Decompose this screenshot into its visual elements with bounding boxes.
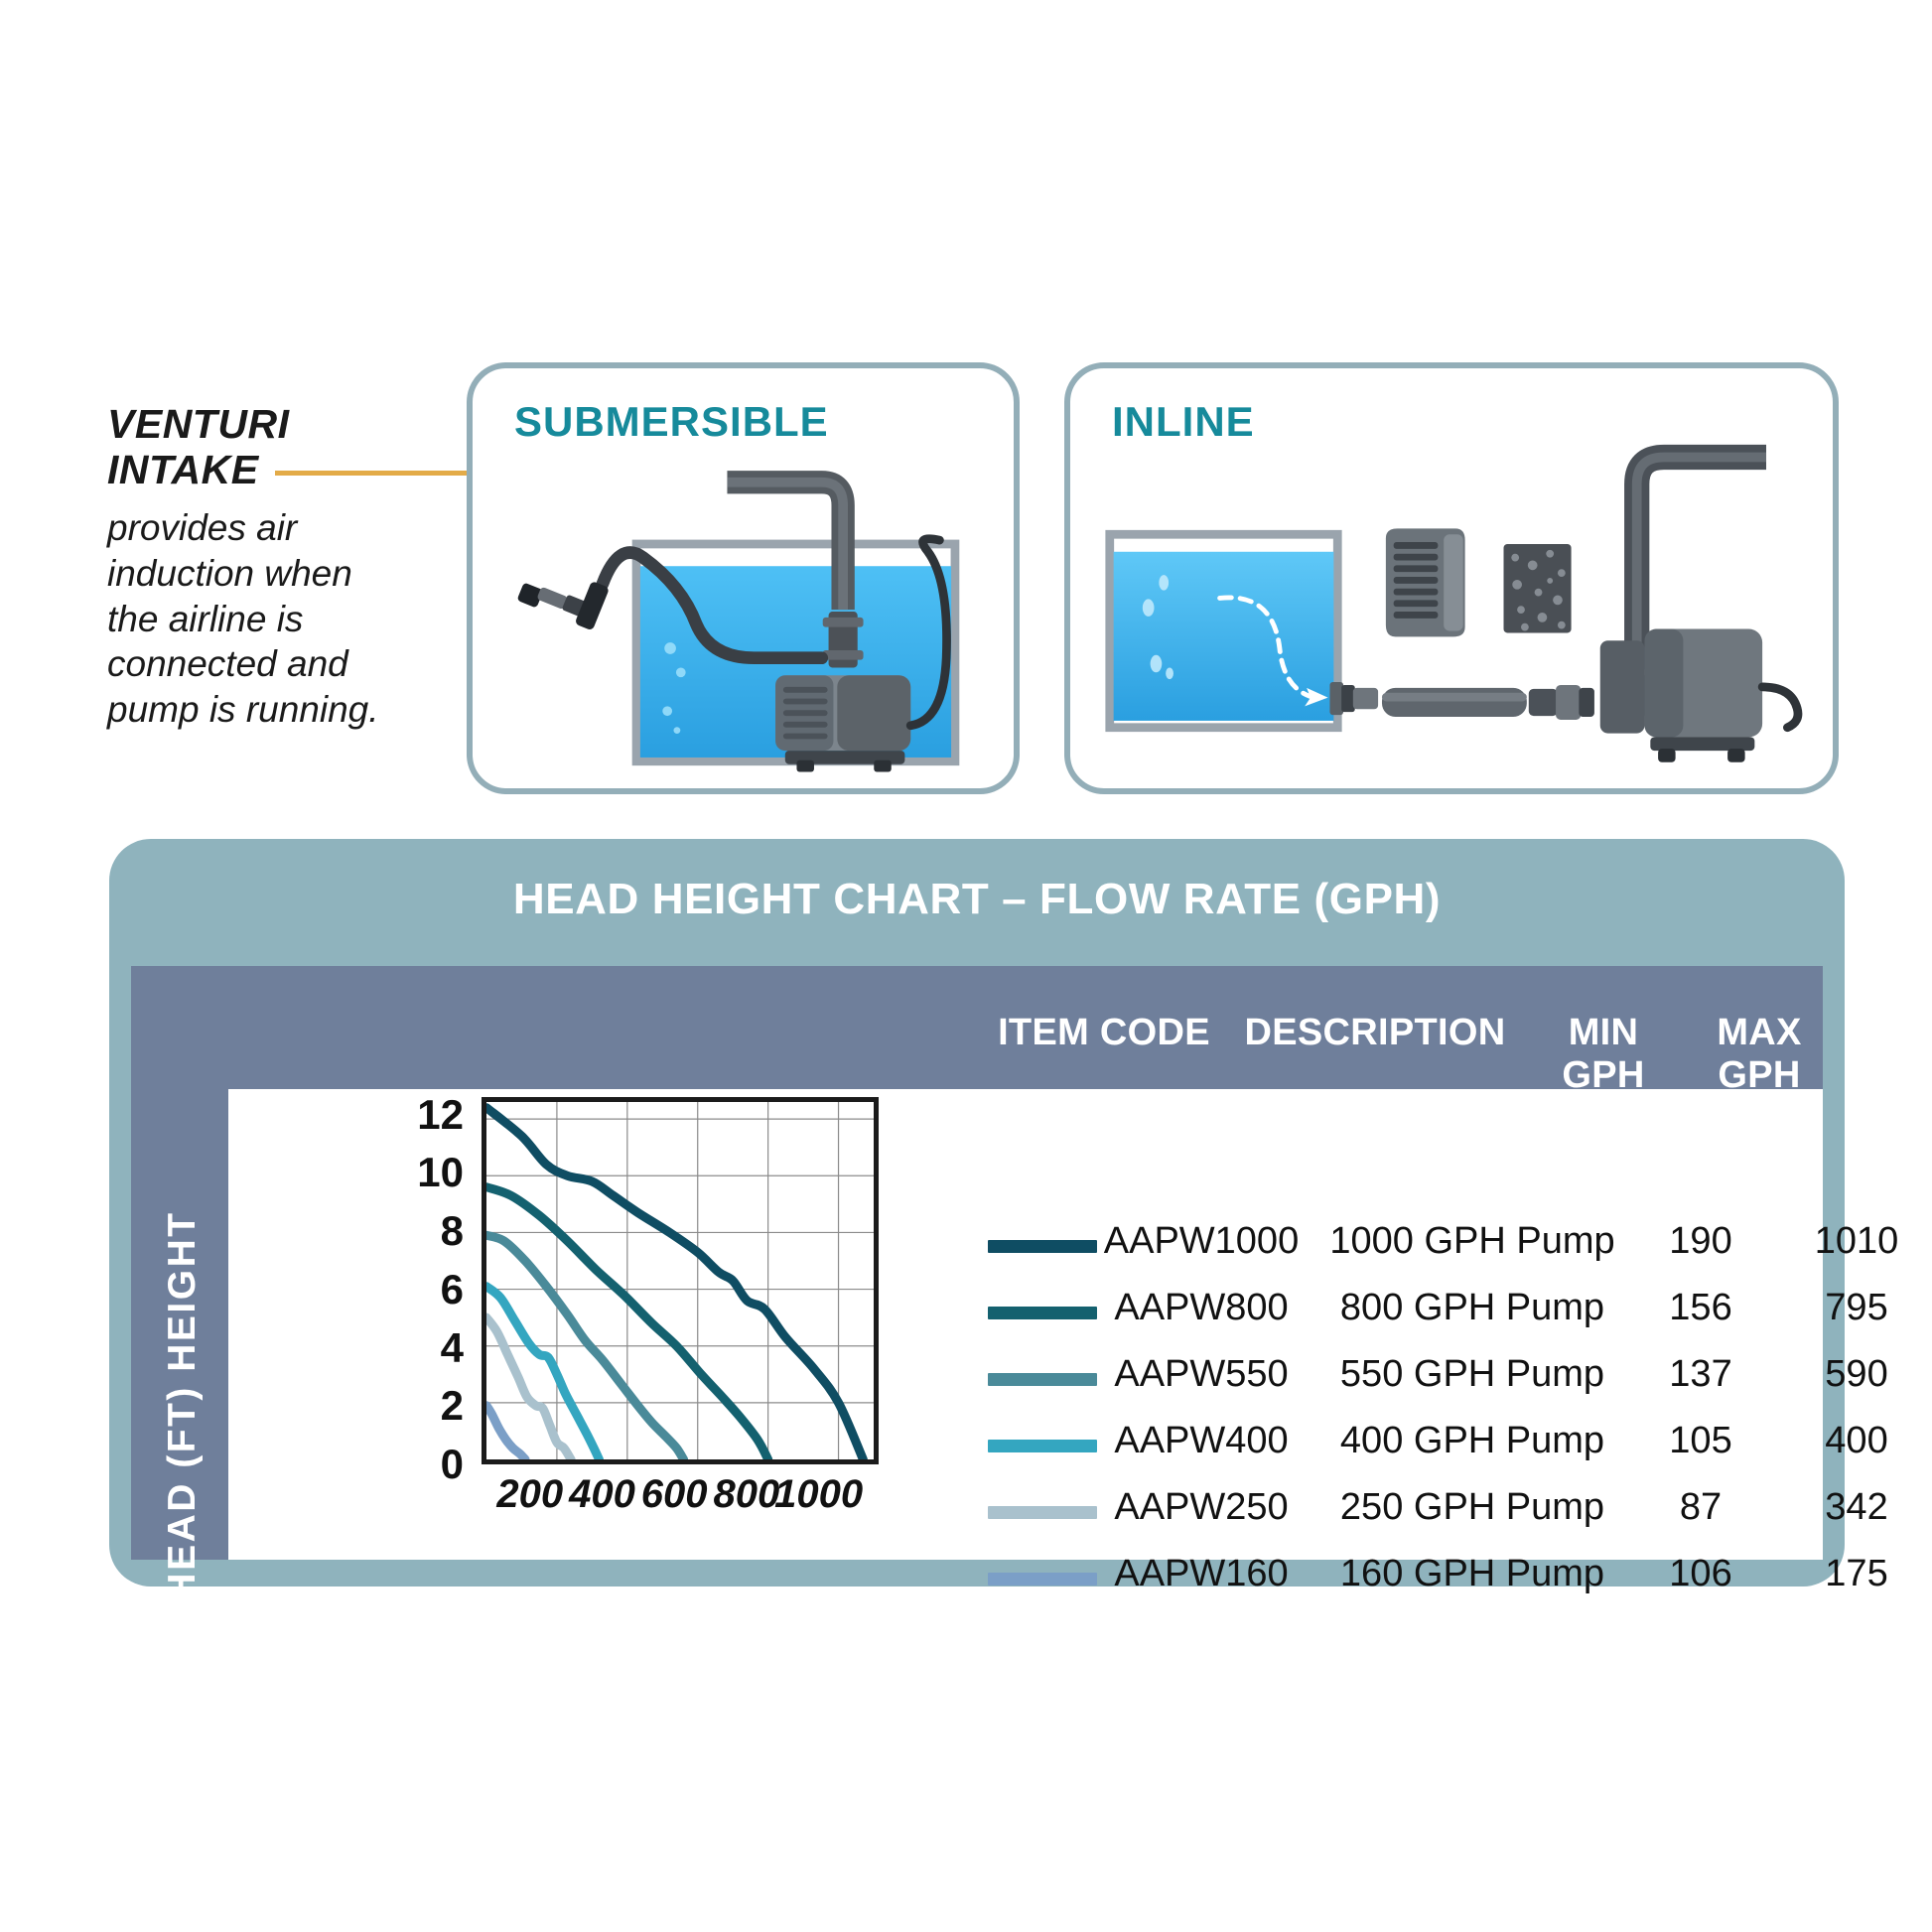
table-row: AAPW160160 GPH Pump106175 [1082,1547,1916,1613]
page-root: VENTURI INTAKE provides air induction wh… [0,0,1932,1932]
card-title: HEAD HEIGHT CHART – FLOW RATE (GPH) [109,875,1845,924]
x-tick-label: 1000 [774,1472,863,1517]
cell-item-code: AAPW550 [1082,1353,1320,1396]
venturi-callout: VENTURI INTAKE provides air induction wh… [107,402,405,733]
legend-swatch [988,1240,1097,1253]
cell-max-gph: 400 [1777,1420,1932,1462]
panel-submersible: SUBMERSIBLE [467,362,1020,794]
column-header-item-code: ITEM CODE [985,1012,1223,1054]
callout-headline: VENTURI INTAKE [107,402,405,493]
series-layer [486,1108,863,1459]
y-axis-ticks: 024681012 [382,1097,464,1554]
table-row: AAPW10001000 GPH Pump1901010 [1082,1214,1916,1281]
y-axis-title: HEAD (FT) HEIGHT [161,1207,205,1604]
table-row: AAPW400400 GPH Pump105400 [1082,1414,1916,1480]
x-axis-ticks: 2004006008001000 [482,1472,879,1528]
cell-min-gph: 87 [1626,1486,1775,1529]
table-row: AAPW250250 GPH Pump87342 [1082,1480,1916,1547]
x-tick-label: 800 [714,1472,780,1517]
legend-swatch [988,1573,1097,1586]
pump-table-body: AAPW10001000 GPH Pump1901010AAPW800800 G… [1082,1214,1916,1613]
cell-item-code: AAPW1000 [1082,1220,1320,1263]
cell-description: 800 GPH Pump [1328,1287,1616,1329]
inline-illustration [1070,368,1833,788]
y-tick-label: 6 [394,1266,464,1313]
y-axis-band: HEAD (FT) HEIGHT [131,1089,228,1560]
y-tick-label: 0 [394,1441,464,1488]
x-tick-label: 200 [496,1472,563,1517]
legend-swatch [988,1307,1097,1319]
card-inner: ITEM CODE DESCRIPTION MIN GPH MAX GPH HE… [131,966,1823,1560]
y-tick-label: 2 [394,1382,464,1430]
y-tick-label: 4 [394,1324,464,1372]
legend-swatch [988,1440,1097,1452]
line-chart: 024681012 2004006008001000 [382,1097,898,1554]
table-row: AAPW550550 GPH Pump137590 [1082,1347,1916,1414]
cell-item-code: AAPW800 [1082,1287,1320,1329]
cell-description: 160 GPH Pump [1328,1553,1616,1595]
column-header-min-gph: MIN GPH [1529,1012,1678,1097]
cell-max-gph: 175 [1777,1553,1932,1595]
cell-min-gph: 105 [1626,1420,1775,1462]
series-line [486,1406,525,1459]
legend-swatch [988,1373,1097,1386]
callout-body: provides air induction when the airline … [107,505,405,733]
cell-description: 250 GPH Pump [1328,1486,1616,1529]
table-header: ITEM CODE DESCRIPTION MIN GPH MAX GPH [985,1012,1809,1073]
submersible-illustration [473,368,1014,788]
panel-inline: INLINE [1064,362,1839,794]
x-tick-label: 600 [641,1472,708,1517]
column-header-max-gph: MAX GPH [1680,1012,1839,1097]
cell-min-gph: 190 [1626,1220,1775,1263]
cell-description: 550 GPH Pump [1328,1353,1616,1396]
cell-item-code: AAPW250 [1082,1486,1320,1529]
cell-description: 1000 GPH Pump [1328,1220,1616,1263]
cell-max-gph: 342 [1777,1486,1932,1529]
y-tick-label: 8 [394,1207,464,1255]
column-header-description: DESCRIPTION [1231,1012,1519,1054]
cell-max-gph: 795 [1777,1287,1932,1329]
y-tick-label: 12 [394,1091,464,1139]
cell-item-code: AAPW160 [1082,1553,1320,1595]
cell-min-gph: 156 [1626,1287,1775,1329]
y-tick-label: 10 [394,1149,464,1196]
cell-item-code: AAPW400 [1082,1420,1320,1462]
plot-area [482,1097,879,1464]
cell-max-gph: 590 [1777,1353,1932,1396]
cell-description: 400 GPH Pump [1328,1420,1616,1462]
legend-swatch [988,1506,1097,1519]
cell-min-gph: 137 [1626,1353,1775,1396]
cell-max-gph: 1010 [1777,1220,1932,1263]
cell-min-gph: 106 [1626,1553,1775,1595]
chart-content-area: 024681012 2004006008001000 AAPW10001000 … [228,1089,1823,1560]
x-tick-label: 400 [569,1472,635,1517]
curve-layer [486,1102,874,1459]
table-row: AAPW800800 GPH Pump156795 [1082,1281,1916,1347]
head-height-chart-card: HEAD HEIGHT CHART – FLOW RATE (GPH) ITEM… [109,839,1845,1587]
